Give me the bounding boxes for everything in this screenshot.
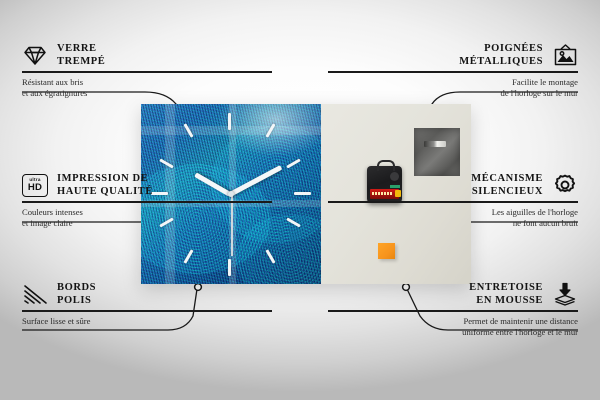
foam-spacer-arrow-icon [552,282,578,306]
callout-desc: Surface lisse et sûre [22,316,272,327]
foam-spacer [378,243,395,259]
callout-rule [22,310,272,312]
hanger-slot [424,141,446,147]
callout-poignees-metalliques: POIGNÉES MÉTALLIQUES Facilite le montage… [328,42,578,99]
callout-title: ENTRETOISE EN MOUSSE [469,281,543,307]
callout-title: BORDS POLIS [57,281,96,307]
metal-hanger-plate [414,128,460,176]
callout-title: IMPRESSION DE HAUTE QUALITÉ [57,172,153,198]
callout-rule [22,71,272,73]
callout-title: POIGNÉES MÉTALLIQUES [459,42,543,68]
diamond-icon [22,43,48,67]
callout-title: MÉCANISME SILENCIEUX [471,172,543,198]
ultra-hd-badge-icon: ultra HD [22,173,48,197]
callout-verre-trempe: VERRE TREMPÉ Résistant aux bris et aux é… [22,42,272,99]
hanging-frame-icon [552,43,578,67]
callout-rule [22,201,272,203]
callout-mecanisme-silencieux: MÉCANISME SILENCIEUX Les aiguilles de l'… [328,172,578,229]
callout-rule [328,201,578,203]
infographic-canvas: VERRE TREMPÉ Résistant aux bris et aux é… [0,0,600,400]
polished-edge-icon [22,282,48,306]
gear-icon [552,173,578,197]
callout-desc: Facilite le montage de l'horloge sur le … [328,77,578,100]
hd-badge-main-text: HD [28,183,42,193]
callout-impression-haute-qualite: ultra HD IMPRESSION DE HAUTE QUALITÉ Cou… [22,172,272,229]
callout-rule [328,71,578,73]
callout-rule [328,310,578,312]
callout-desc: Couleurs intenses et image claire [22,207,272,230]
callout-desc: Les aiguilles de l'horloge ne font aucun… [328,207,578,230]
callout-title: VERRE TREMPÉ [57,42,105,68]
callout-bords-polis: BORDS POLIS Surface lisse et sûre [22,281,272,327]
callout-desc: Résistant aux bris et aux égratignures [22,77,272,100]
callout-desc: Permet de maintenir une distance uniform… [328,316,578,339]
mechanism-hook [377,160,395,171]
callout-entretoise-en-mousse: ENTRETOISE EN MOUSSE Permet de maintenir… [328,281,578,338]
